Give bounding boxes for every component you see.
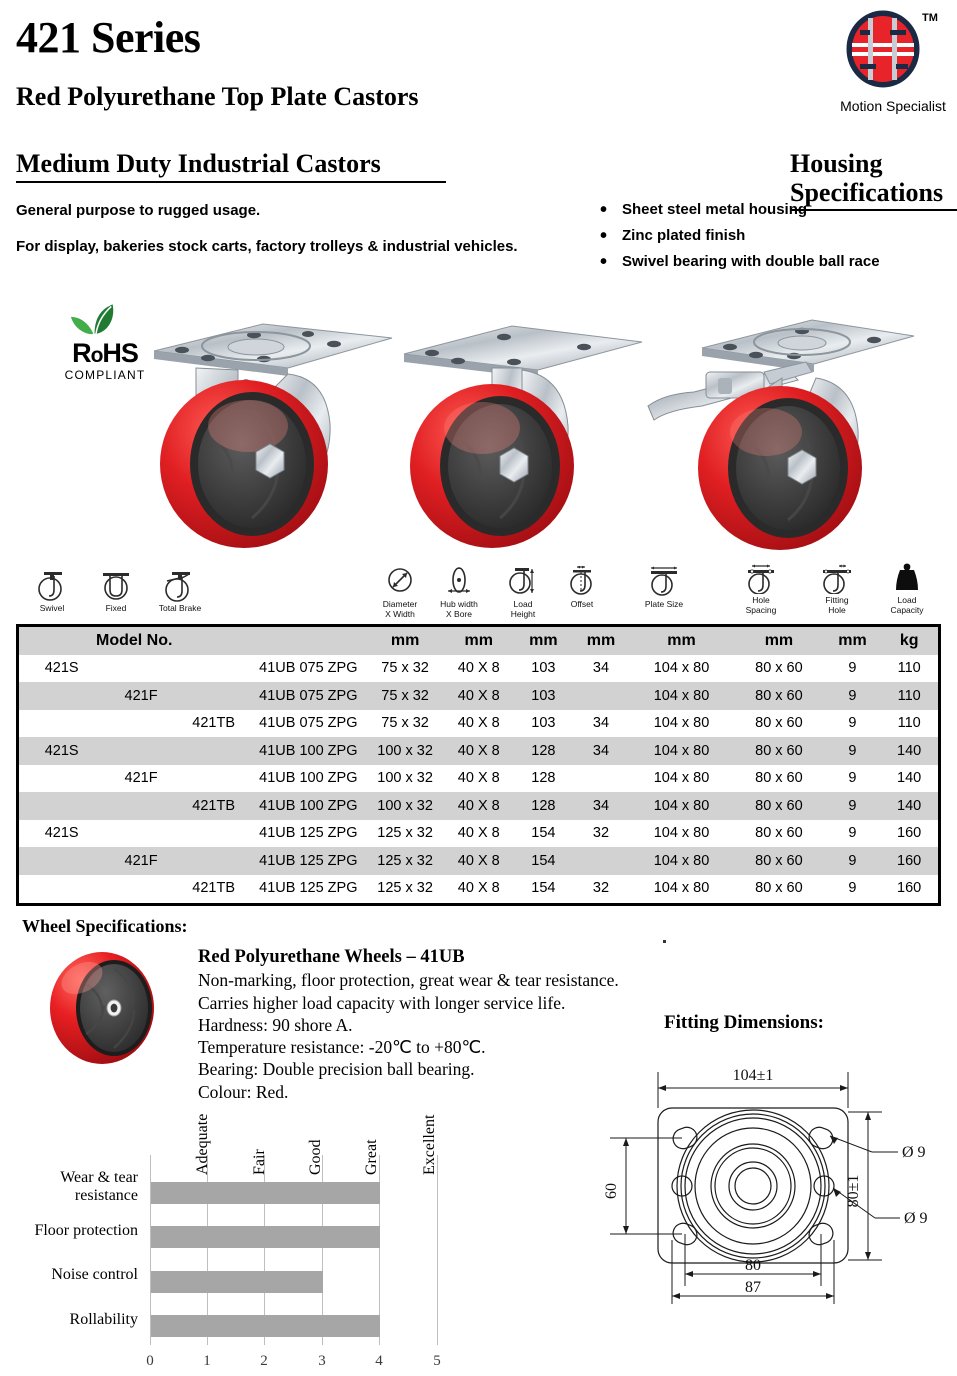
cell-hole-spacing: 80 x 60: [733, 875, 824, 903]
cell-offset: 34: [572, 737, 630, 765]
load-height-icon: [498, 566, 548, 600]
cell-model-fixed: [104, 875, 177, 903]
header-unit-plate: mm: [630, 627, 733, 655]
table-row: 421F41UB 075 ZPG75 x 3240 X 8103104 x 80…: [19, 682, 938, 710]
header-wheel-blank: [249, 627, 367, 655]
cell-dia-width: 100 x 32: [367, 737, 443, 765]
rohs-wordmark: RoHS: [46, 340, 164, 367]
table-row: 421F41UB 125 ZPG125 x 3240 X 8154104 x 8…: [19, 847, 938, 875]
cell-model-swivel: 421S: [19, 655, 104, 683]
swivel-castor-photo: [148, 306, 398, 556]
cell-fitting-hole: 9: [825, 682, 881, 710]
dim-bottom-1-label: 80: [745, 1257, 761, 1274]
cell-plate-size: 104 x 80: [630, 655, 733, 683]
cell-plate-size: 104 x 80: [630, 737, 733, 765]
hub-caption-2: X Bore: [428, 610, 490, 620]
total-brake-caption: Total Brake: [148, 604, 212, 614]
cell-offset: 34: [572, 792, 630, 820]
wheel-line-5: Bearing: Double precision ball bearing.: [198, 1058, 648, 1080]
cell-load-capacity: 110: [880, 682, 938, 710]
cell-model-fixed: 421F: [104, 847, 177, 875]
table-row: 421TB41UB 100 ZPG100 x 3240 X 812834104 …: [19, 792, 938, 820]
wheel-specification-text: Red Polyurethane Wheels – 41UB Non-marki…: [198, 946, 648, 1103]
cell-fitting-hole: 9: [825, 792, 881, 820]
rating-label-adequate: Adequate: [194, 1114, 212, 1175]
cell-load-capacity: 160: [880, 875, 938, 903]
cell-wheel-code: 41UB 125 ZPG: [249, 847, 367, 875]
housing-bullet-1: Sheet steel metal housing: [596, 201, 807, 218]
category-label-roll: Rollability: [10, 1311, 138, 1329]
housing-bullet-2: Zinc plated finish: [596, 227, 745, 244]
swivel-caption: Swivel: [26, 604, 78, 614]
cell-plate-size: 104 x 80: [630, 820, 733, 848]
specifications-table: Model No. mm mm mm mm mm mm mm kg 421S41…: [16, 624, 941, 906]
plate-size-caption: Plate Size: [624, 600, 704, 610]
cell-load-capacity: 110: [880, 655, 938, 683]
cell-load-height: 154: [515, 875, 573, 903]
cell-plate-size: 104 x 80: [630, 765, 733, 793]
wheel-specifications-heading: Wheel Specifications:: [22, 916, 187, 937]
header-unit-fit-hole: mm: [825, 627, 881, 655]
cell-plate-size: 104 x 80: [630, 710, 733, 738]
dim-top-label: 104±1: [733, 1067, 774, 1084]
header-unit-dia: mm: [367, 627, 443, 655]
hole-spacing-caption-2: Spacing: [730, 606, 792, 616]
cell-model-brake: [178, 655, 250, 683]
xtick-4: 4: [367, 1353, 391, 1370]
category-label-noise: Noise control: [10, 1266, 138, 1284]
dot-artifact: [663, 940, 666, 943]
cell-hub-bore: 40 X 8: [443, 682, 515, 710]
cell-hub-bore: 40 X 8: [443, 875, 515, 903]
header-unit-capacity: kg: [880, 627, 938, 655]
cell-model-swivel: [19, 875, 104, 903]
table-body: 421S41UB 075 ZPG75 x 3240 X 810334104 x …: [19, 655, 938, 903]
cell-dia-width: 75 x 32: [367, 655, 443, 683]
total-brake-icon: [148, 570, 212, 604]
table-row: 421S41UB 100 ZPG100 x 3240 X 812834104 x…: [19, 737, 938, 765]
cell-model-swivel: [19, 682, 104, 710]
bar-noise-control: [151, 1271, 323, 1293]
cell-load-height: 154: [515, 847, 573, 875]
cell-model-brake: [178, 847, 250, 875]
swivel-castor-icon-cell: Swivel: [26, 570, 78, 614]
cell-dia-width: 100 x 32: [367, 792, 443, 820]
cell-plate-size: 104 x 80: [630, 792, 733, 820]
cell-model-fixed: [104, 710, 177, 738]
cell-plate-size: 104 x 80: [630, 847, 733, 875]
cell-model-brake: 421TB: [178, 875, 250, 903]
cell-offset: 34: [572, 655, 630, 683]
jgs-logo-icon: [846, 10, 920, 88]
cell-offset: 32: [572, 820, 630, 848]
header-unit-holes: mm: [733, 627, 824, 655]
cell-dia-width: 125 x 32: [367, 847, 443, 875]
cell-offset: [572, 847, 630, 875]
cell-model-fixed: 421F: [104, 682, 177, 710]
cell-model-brake: [178, 765, 250, 793]
cell-dia-width: 100 x 32: [367, 765, 443, 793]
fitting-dimensions-heading: Fitting Dimensions:: [664, 1012, 824, 1034]
fixed-castor-photo: [396, 306, 646, 556]
cell-fitting-hole: 9: [825, 875, 881, 903]
dim-left-label: 60: [603, 1183, 620, 1199]
cell-hole-spacing: 80 x 60: [733, 847, 824, 875]
cell-load-capacity: 140: [880, 737, 938, 765]
fitting-dimensions-diagram: 104±1 80±1 60 80 87 Ø 9 Ø 9: [590, 1036, 957, 1326]
brand-logo: TM Motion Specialist: [838, 10, 946, 110]
fixed-caption: Fixed: [90, 604, 142, 614]
xtick-2: 2: [252, 1353, 276, 1370]
total-brake-castor-photo: [646, 306, 916, 556]
cell-wheel-code: 41UB 125 ZPG: [249, 820, 367, 848]
performance-bar-chart: Adequate Fair Good Great Excellent Wear …: [0, 1085, 500, 1376]
cell-model-brake: [178, 820, 250, 848]
cell-load-height: 128: [515, 792, 573, 820]
cell-fitting-hole: 9: [825, 847, 881, 875]
cell-model-fixed: 421F: [104, 765, 177, 793]
cell-hole-spacing: 80 x 60: [733, 710, 824, 738]
wheel-line-2: Carries higher load capacity with longer…: [198, 992, 648, 1014]
load-capacity-caption-2: Capacity: [876, 606, 938, 616]
cell-hub-bore: 40 X 8: [443, 792, 515, 820]
fixed-castor-icon: [90, 570, 142, 604]
hole-dia-label-1: Ø 9: [902, 1144, 926, 1161]
cell-fitting-hole: 9: [825, 765, 881, 793]
page-subtitle: Red Polyurethane Top Plate Castors: [16, 84, 419, 110]
cell-hole-spacing: 80 x 60: [733, 682, 824, 710]
cell-model-fixed: [104, 737, 177, 765]
offset-icon: [556, 566, 608, 600]
dim-right-label: 80±1: [845, 1175, 862, 1208]
plate-size-icon-cell: Plate Size: [624, 566, 704, 610]
header-model-no: Model No.: [19, 627, 249, 655]
cell-model-swivel: [19, 765, 104, 793]
cell-model-swivel: [19, 792, 104, 820]
cell-model-fixed: [104, 820, 177, 848]
hole-spacing-icon: [730, 562, 792, 596]
brand-tagline: Motion Specialist: [808, 98, 957, 114]
trademark-symbol: TM: [922, 12, 938, 24]
cell-hub-bore: 40 X 8: [443, 765, 515, 793]
cell-model-fixed: [104, 655, 177, 683]
hole-spacing-icon-cell: Hole Spacing: [730, 562, 792, 615]
cell-model-swivel: [19, 710, 104, 738]
cell-offset: [572, 765, 630, 793]
header-unit-load-height: mm: [515, 627, 573, 655]
dim-bottom-2-label: 87: [745, 1279, 761, 1296]
cell-load-height: 103: [515, 682, 573, 710]
wheel-line-4: Temperature resistance: -20℃ to +80℃.: [198, 1036, 648, 1058]
housing-bullet-3: Swivel bearing with double ball race: [596, 253, 880, 270]
table-row: 421TB41UB 075 ZPG75 x 3240 X 810334104 x…: [19, 710, 938, 738]
wheel-line-3: Hardness: 90 shore A.: [198, 1014, 648, 1036]
diameter-width-icon-cell: Diameter X Width: [370, 566, 430, 619]
swivel-castor-icon: [26, 570, 78, 604]
cell-model-brake: [178, 682, 250, 710]
rohs-leaf-icon: [64, 296, 146, 342]
total-brake-icon-cell: Total Brake: [148, 570, 212, 614]
cell-offset: 34: [572, 710, 630, 738]
cell-offset: 32: [572, 875, 630, 903]
gridline-5: [437, 1155, 438, 1345]
cell-model-brake: 421TB: [178, 710, 250, 738]
cell-wheel-code: 41UB 100 ZPG: [249, 765, 367, 793]
category-label-wear: Wear & tear resistance: [10, 1169, 138, 1205]
header-unit-offset: mm: [572, 627, 630, 655]
cell-offset: [572, 682, 630, 710]
table-row: 421S41UB 125 ZPG125 x 3240 X 815432104 x…: [19, 820, 938, 848]
wheel-line-1: Non-marking, floor protection, great wea…: [198, 969, 648, 991]
cell-model-brake: [178, 737, 250, 765]
cell-load-height: 128: [515, 765, 573, 793]
rohs-compliant-text: COMPLIANT: [46, 368, 164, 382]
cell-hole-spacing: 80 x 60: [733, 737, 824, 765]
cell-model-brake: 421TB: [178, 792, 250, 820]
cell-dia-width: 75 x 32: [367, 710, 443, 738]
cell-hub-bore: 40 X 8: [443, 820, 515, 848]
cell-wheel-code: 41UB 100 ZPG: [249, 792, 367, 820]
bar-floor-protection: [151, 1226, 380, 1248]
cell-model-fixed: [104, 792, 177, 820]
table-header-row: Model No. mm mm mm mm mm mm mm kg: [19, 627, 938, 655]
cell-hub-bore: 40 X 8: [443, 710, 515, 738]
bar-wear-tear: [151, 1182, 380, 1204]
cell-model-swivel: [19, 847, 104, 875]
fitting-hole-caption-2: Hole: [808, 606, 866, 616]
cell-hub-bore: 40 X 8: [443, 655, 515, 683]
load-capacity-icon-cell: Load Capacity: [876, 562, 938, 615]
cell-model-swivel: 421S: [19, 820, 104, 848]
load-height-caption-2: Height: [498, 610, 548, 620]
right-section-heading: Housing Specifications: [790, 150, 957, 211]
table-row: 421S41UB 075 ZPG75 x 3240 X 810334104 x …: [19, 655, 938, 683]
cell-wheel-code: 41UB 100 ZPG: [249, 737, 367, 765]
page-title: 421 Series: [16, 16, 200, 60]
cell-load-capacity: 140: [880, 792, 938, 820]
cell-fitting-hole: 9: [825, 655, 881, 683]
cell-load-capacity: 110: [880, 710, 938, 738]
header-unit-hub: mm: [443, 627, 515, 655]
load-capacity-icon: [876, 562, 938, 596]
cell-hole-spacing: 80 x 60: [733, 792, 824, 820]
cell-fitting-hole: 9: [825, 737, 881, 765]
fitting-hole-icon: [808, 562, 866, 596]
cell-wheel-code: 41UB 125 ZPG: [249, 875, 367, 903]
cell-load-height: 103: [515, 710, 573, 738]
cell-load-height: 128: [515, 737, 573, 765]
cell-load-height: 154: [515, 820, 573, 848]
cell-hole-spacing: 80 x 60: [733, 820, 824, 848]
table-row: 421F41UB 100 ZPG100 x 3240 X 8128104 x 8…: [19, 765, 938, 793]
diameter-caption-2: X Width: [370, 610, 430, 620]
cell-wheel-code: 41UB 075 ZPG: [249, 710, 367, 738]
bar-rollability: [151, 1315, 380, 1337]
cell-fitting-hole: 9: [825, 710, 881, 738]
offset-caption: Offset: [556, 600, 608, 610]
cell-plate-size: 104 x 80: [630, 682, 733, 710]
cell-load-capacity: 140: [880, 765, 938, 793]
cell-dia-width: 125 x 32: [367, 820, 443, 848]
hub-width-bore-icon-cell: Hub width X Bore: [428, 566, 490, 619]
left-section-heading: Medium Duty Industrial Castors: [16, 150, 446, 183]
cell-hub-bore: 40 X 8: [443, 737, 515, 765]
cell-hub-bore: 40 X 8: [443, 847, 515, 875]
cell-hole-spacing: 80 x 60: [733, 655, 824, 683]
cell-model-swivel: 421S: [19, 737, 104, 765]
load-height-icon-cell: Load Height: [498, 566, 548, 619]
rating-label-fair: Fair: [251, 1149, 269, 1175]
offset-icon-cell: Offset: [556, 566, 608, 610]
intro-line-1: General purpose to rugged usage.: [16, 202, 260, 219]
fixed-castor-icon-cell: Fixed: [90, 570, 142, 614]
cell-dia-width: 125 x 32: [367, 875, 443, 903]
cell-load-capacity: 160: [880, 847, 938, 875]
cell-dia-width: 75 x 32: [367, 682, 443, 710]
wheel-photo: [42, 948, 172, 1066]
cell-load-height: 103: [515, 655, 573, 683]
cell-plate-size: 104 x 80: [630, 875, 733, 903]
plate-size-icon: [624, 566, 704, 600]
xtick-0: 0: [138, 1353, 162, 1370]
intro-line-2: For display, bakeries stock carts, facto…: [16, 238, 518, 255]
fitting-hole-icon-cell: Fitting Hole: [808, 562, 866, 615]
cell-load-capacity: 160: [880, 820, 938, 848]
hole-dia-label-2: Ø 9: [904, 1210, 928, 1227]
table-row: 421TB41UB 125 ZPG125 x 3240 X 815432104 …: [19, 875, 938, 903]
category-label-floor: Floor protection: [10, 1222, 138, 1240]
hub-width-bore-icon: [428, 566, 490, 600]
cell-wheel-code: 41UB 075 ZPG: [249, 655, 367, 683]
cell-hole-spacing: 80 x 60: [733, 765, 824, 793]
xtick-1: 1: [195, 1353, 219, 1370]
xtick-3: 3: [310, 1353, 334, 1370]
xtick-5: 5: [425, 1353, 449, 1370]
rohs-compliant-logo: RoHS COMPLIANT: [46, 296, 164, 392]
cell-fitting-hole: 9: [825, 820, 881, 848]
cell-wheel-code: 41UB 075 ZPG: [249, 682, 367, 710]
wheel-title: Red Polyurethane Wheels – 41UB: [198, 946, 648, 969]
diameter-width-icon: [370, 566, 430, 600]
